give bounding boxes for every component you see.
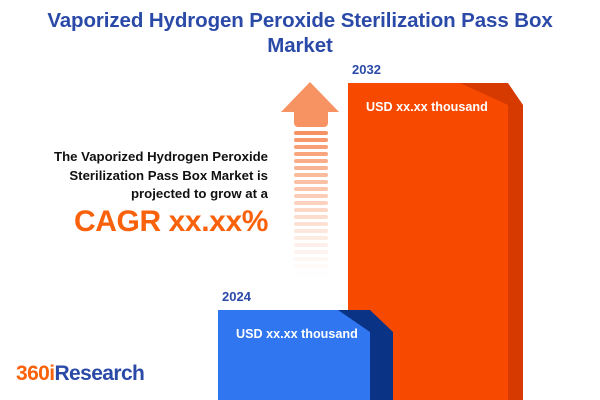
arrow-head-icon	[281, 82, 339, 112]
bar-2032-value-label: USD xx.xx thousand	[366, 100, 488, 114]
arrow-stripe	[294, 236, 328, 240]
growth-arrow-icon	[281, 82, 341, 287]
bar-2024-side	[370, 310, 393, 400]
arrow-stripe	[294, 208, 328, 212]
arrow-stripe	[294, 215, 328, 219]
arrow-stripe	[294, 243, 328, 247]
arrow-stripe	[294, 159, 328, 163]
arrow-stripe	[294, 257, 328, 261]
arrow-neck-icon	[294, 111, 328, 127]
brand-logo-part-a: 360i	[16, 362, 54, 385]
market-infographic: Vaporized Hydrogen Peroxide Sterilizatio…	[0, 0, 600, 400]
arrow-stripe	[294, 166, 328, 170]
arrow-stripe	[294, 173, 328, 177]
brand-logo-part-b: Research	[54, 362, 144, 385]
brand-logo: 360iResearch	[16, 362, 144, 386]
arrow-stripe	[294, 250, 328, 254]
arrow-stripe	[294, 264, 328, 268]
arrow-stripe	[294, 152, 328, 156]
arrow-stripe	[294, 222, 328, 226]
arrow-stripe	[294, 271, 328, 275]
arrow-stripe	[294, 194, 328, 198]
bar-2024-year-label: 2024	[222, 289, 251, 304]
arrow-stripe	[294, 180, 328, 184]
market-description: The Vaporized Hydrogen Peroxide Steriliz…	[18, 148, 268, 204]
arrow-stripe	[294, 278, 328, 282]
bar-2024-value-label: USD xx.xx thousand	[236, 327, 358, 341]
arrow-stripe	[294, 229, 328, 233]
arrow-stripe	[294, 187, 328, 191]
arrow-stripe	[294, 201, 328, 205]
cagr-value: CAGR xx.xx%	[18, 205, 268, 239]
arrow-stripes	[294, 131, 328, 287]
page-title: Vaporized Hydrogen Peroxide Sterilizatio…	[22, 8, 578, 58]
bar-2032-side	[508, 83, 523, 400]
arrow-stripe	[294, 138, 328, 142]
bar-2024	[218, 310, 393, 400]
bar-2032-year-label: 2032	[352, 62, 381, 77]
arrow-stripe	[294, 145, 328, 149]
bar-2024-face	[218, 310, 370, 400]
arrow-stripe	[294, 131, 328, 135]
